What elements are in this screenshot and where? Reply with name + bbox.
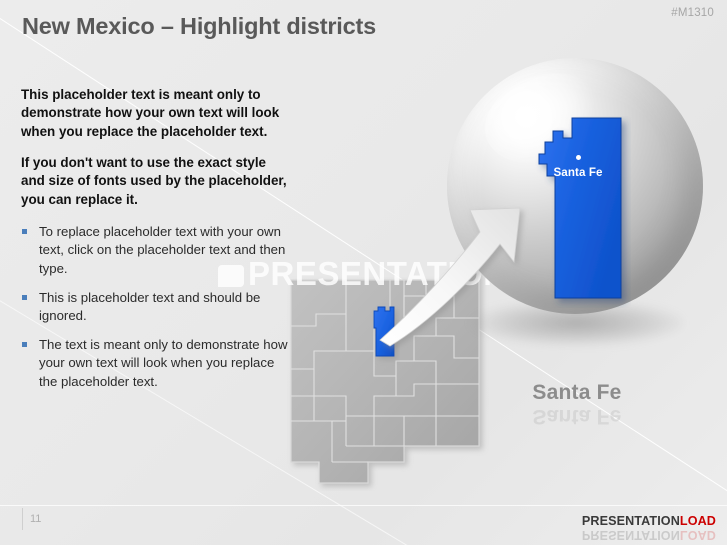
callout-arrow-icon bbox=[368, 188, 548, 360]
brand-logo: PRESENTATIONLOAD bbox=[582, 514, 716, 528]
list-item: The text is meant only to demonstrate ho… bbox=[21, 336, 293, 391]
page-number: 11 bbox=[30, 513, 41, 525]
brand-logo-reflection: PRESENTATIONLOAD bbox=[582, 528, 716, 542]
page-title: New Mexico – Highlight districts bbox=[22, 13, 376, 40]
list-item: This is placeholder text and should be i… bbox=[21, 289, 293, 325]
intro-paragraph-2: If you don't want to use the exact style… bbox=[21, 154, 293, 209]
brand-logo-reflection-first: PRESENTATION bbox=[582, 528, 680, 542]
slide-code: #M1310 bbox=[671, 7, 714, 19]
bullet-square-icon bbox=[22, 229, 27, 234]
list-item: To replace placeholder text with your ow… bbox=[21, 223, 293, 278]
bullet-square-icon bbox=[22, 342, 27, 347]
district-caption: Santa Fe bbox=[470, 381, 684, 405]
bullet-square-icon bbox=[22, 295, 27, 300]
city-marker-dot bbox=[576, 155, 581, 160]
footer-divider bbox=[0, 505, 727, 506]
district-caption-reflection: Santa Fe bbox=[470, 404, 684, 428]
slide-canvas: New Mexico – Highlight districts #M1310 … bbox=[0, 0, 727, 545]
intro-paragraph-1: This placeholder text is meant only to d… bbox=[21, 86, 293, 141]
bullet-list: To replace placeholder text with your ow… bbox=[21, 223, 293, 391]
list-item-label: To replace placeholder text with your ow… bbox=[39, 224, 285, 275]
list-item-label: The text is meant only to demonstrate ho… bbox=[39, 337, 288, 388]
brand-logo-first: PRESENTATION bbox=[582, 514, 680, 528]
page-number-divider bbox=[22, 508, 23, 530]
city-label: Santa Fe bbox=[513, 166, 643, 179]
list-item-label: This is placeholder text and should be i… bbox=[39, 290, 260, 323]
text-content-column: This placeholder text is meant only to d… bbox=[21, 86, 293, 402]
brand-logo-reflection-second: LOAD bbox=[680, 528, 716, 542]
brand-logo-second: LOAD bbox=[680, 514, 716, 528]
